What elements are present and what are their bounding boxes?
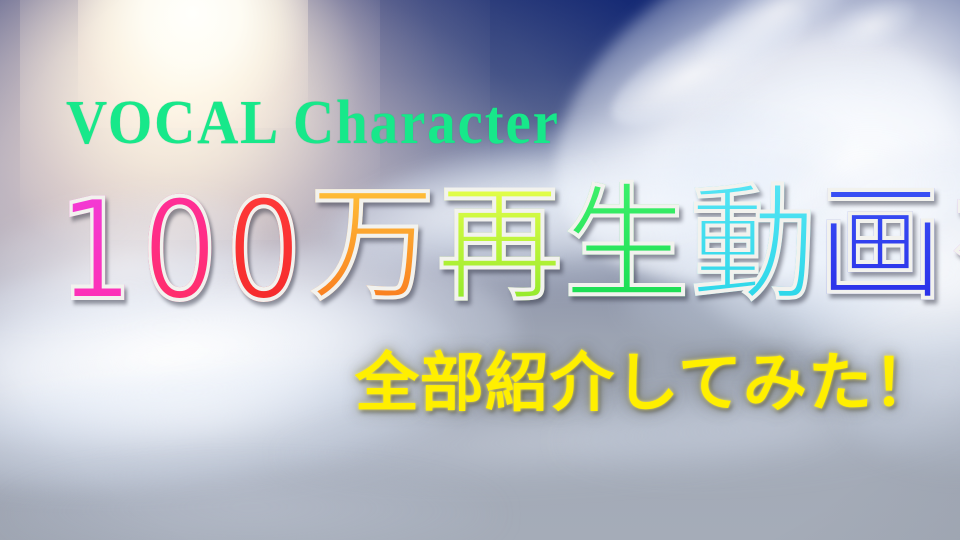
title-glyph-fill-4: 再	[436, 182, 562, 308]
title-glyph-fill-5: 生	[563, 182, 689, 308]
thumbnail-canvas: VOCAL Character 100万再生動画を 全部紹介してみた！	[0, 0, 960, 540]
text-layer: VOCAL Character 100万再生動画を 全部紹介してみた！	[0, 0, 960, 540]
title-glyph-2: 0	[226, 182, 302, 320]
title-glyph-3: 万	[309, 182, 435, 308]
title-glyph-fill-2: 0	[226, 182, 302, 320]
title-glyph-4: 再	[436, 182, 562, 308]
title-glyph-7: 画	[817, 182, 943, 308]
title-glyph-0: 1	[58, 182, 134, 320]
title-glyph-6: 動	[690, 182, 816, 308]
title-glyph-5: 生	[563, 182, 689, 308]
title-glyph-1: 0	[142, 182, 218, 320]
title-glyph-fill-0: 1	[58, 182, 134, 320]
main-title-text: 100万再生動画を	[58, 182, 958, 332]
title-glyph-fill-3: 万	[309, 182, 435, 308]
subtitle-text: VOCAL Character	[66, 92, 560, 154]
cta-text: 全部紹介してみた！	[355, 352, 938, 417]
title-glyph-fill-7: 画	[817, 182, 943, 308]
title-glyph-8: を	[944, 182, 960, 308]
title-glyph-fill-6: 動	[690, 182, 816, 308]
title-glyph-fill-1: 0	[142, 182, 218, 320]
title-glyph-fill-8: を	[944, 182, 960, 308]
